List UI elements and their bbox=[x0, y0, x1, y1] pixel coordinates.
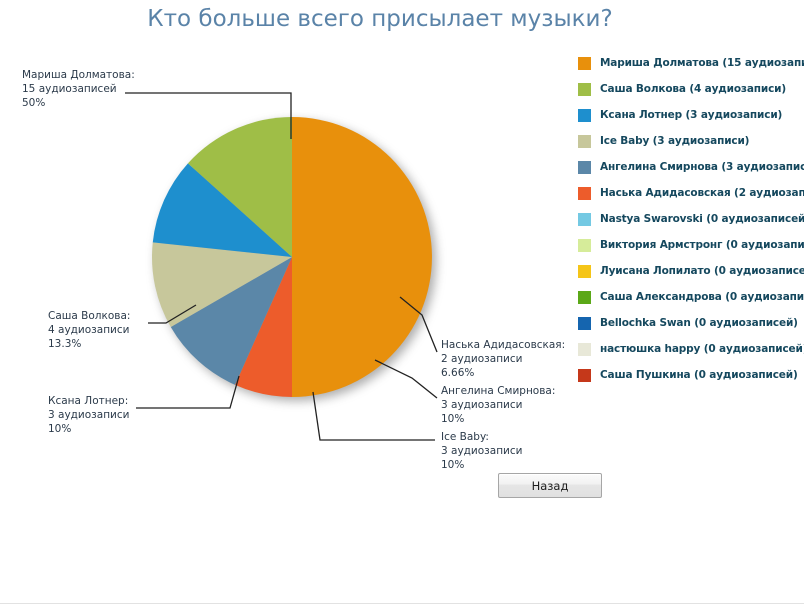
legend: Мариша Долматова (15 аудиозаписей)Саша В… bbox=[578, 50, 804, 388]
legend-item[interactable]: настюшка happy (0 аудиозаписей) bbox=[578, 336, 804, 362]
legend-item[interactable]: Саша Александрова (0 аудиозаписей) bbox=[578, 284, 804, 310]
legend-item[interactable]: Луисана Лопилато (0 аудиозаписей) bbox=[578, 258, 804, 284]
callout-naska-name: Наська Адидасовская: bbox=[441, 338, 565, 352]
callout-naska-adidasovskaya: Наська Адидасовская: 2 аудиозаписи 6.66% bbox=[441, 338, 565, 380]
callout-ice-baby-count: 3 аудиозаписи bbox=[441, 444, 522, 458]
callout-sasha-volkova-count: 4 аудиозаписи bbox=[48, 323, 130, 337]
legend-item-label: Саша Пушкина (0 аудиозаписей) bbox=[600, 369, 798, 381]
legend-color-swatch bbox=[578, 317, 591, 330]
legend-item[interactable]: Мариша Долматова (15 аудиозаписей) bbox=[578, 50, 804, 76]
legend-item-label: настюшка happy (0 аудиозаписей) bbox=[600, 343, 804, 355]
legend-item-label: Ice Baby (3 аудиозаписи) bbox=[600, 135, 749, 147]
legend-item-label: Nastya Swarovski (0 аудиозаписей) bbox=[600, 213, 804, 225]
legend-item[interactable]: Саша Волкова (4 аудиозаписи) bbox=[578, 76, 804, 102]
callout-naska-count: 2 аудиозаписи bbox=[441, 352, 565, 366]
page-title: Кто больше всего присылает музыки? bbox=[0, 6, 760, 32]
callout-angelina-count: 3 аудиозаписи bbox=[441, 398, 555, 412]
legend-item[interactable]: Наська Адидасовская (2 аудиозаписи) bbox=[578, 180, 804, 206]
callout-marisha-percent: 50% bbox=[22, 96, 135, 110]
callout-ice-baby: Ice Baby: 3 аудиозаписи 10% bbox=[441, 430, 522, 472]
legend-item-label: Виктория Армстронг (0 аудиозаписей) bbox=[600, 239, 804, 251]
legend-color-swatch bbox=[578, 135, 591, 148]
callout-marisha-count: 15 аудиозаписей bbox=[22, 82, 135, 96]
legend-item[interactable]: Nastya Swarovski (0 аудиозаписей) bbox=[578, 206, 804, 232]
callout-sasha-volkova-name: Саша Волкова: bbox=[48, 309, 130, 323]
legend-color-swatch bbox=[578, 161, 591, 174]
callout-ksana-lotner-name: Ксана Лотнер: bbox=[48, 394, 129, 408]
legend-item-label: Ксана Лотнер (3 аудиозаписи) bbox=[600, 109, 782, 121]
chart-page: Кто больше всего присылает музыки? Мариш… bbox=[0, 0, 804, 604]
legend-item-label: Саша Александрова (0 аудиозаписей) bbox=[600, 291, 804, 303]
legend-color-swatch bbox=[578, 187, 591, 200]
pie-chart bbox=[148, 113, 444, 409]
callout-angelina-percent: 10% bbox=[441, 412, 555, 426]
legend-item-label: Луисана Лопилато (0 аудиозаписей) bbox=[600, 265, 804, 277]
legend-item[interactable]: Ice Baby (3 аудиозаписи) bbox=[578, 128, 804, 154]
legend-color-swatch bbox=[578, 265, 591, 278]
callout-ksana-lotner-percent: 10% bbox=[48, 422, 129, 436]
legend-item-label: Bellochka Swan (0 аудиозаписей) bbox=[600, 317, 798, 329]
legend-color-swatch bbox=[578, 109, 591, 122]
legend-color-swatch bbox=[578, 83, 591, 96]
callout-marisha: Мариша Долматова: 15 аудиозаписей 50% bbox=[22, 68, 135, 110]
pie-slice[interactable] bbox=[292, 117, 432, 397]
pie-slices bbox=[148, 113, 444, 409]
callout-naska-percent: 6.66% bbox=[441, 366, 565, 380]
callout-sasha-volkova-percent: 13.3% bbox=[48, 337, 130, 351]
legend-color-swatch bbox=[578, 213, 591, 226]
legend-color-swatch bbox=[578, 239, 591, 252]
legend-color-swatch bbox=[578, 291, 591, 304]
legend-color-swatch bbox=[578, 343, 591, 356]
legend-item[interactable]: Виктория Армстронг (0 аудиозаписей) bbox=[578, 232, 804, 258]
callout-ice-baby-percent: 10% bbox=[441, 458, 522, 472]
legend-item-label: Саша Волкова (4 аудиозаписи) bbox=[600, 83, 786, 95]
legend-item[interactable]: Ксана Лотнер (3 аудиозаписи) bbox=[578, 102, 804, 128]
callout-angelina-smirnova: Ангелина Смирнова: 3 аудиозаписи 10% bbox=[441, 384, 555, 426]
callout-marisha-name: Мариша Долматова: bbox=[22, 68, 135, 82]
callout-angelina-name: Ангелина Смирнова: bbox=[441, 384, 555, 398]
callout-ksana-lotner-count: 3 аудиозаписи bbox=[48, 408, 129, 422]
back-button[interactable]: Назад bbox=[498, 473, 602, 498]
legend-item[interactable]: Bellochka Swan (0 аудиозаписей) bbox=[578, 310, 804, 336]
legend-item-label: Ангелина Смирнова (3 аудиозаписи) bbox=[600, 161, 804, 173]
legend-color-swatch bbox=[578, 369, 591, 382]
callout-ksana-lotner: Ксана Лотнер: 3 аудиозаписи 10% bbox=[48, 394, 129, 436]
callout-sasha-volkova: Саша Волкова: 4 аудиозаписи 13.3% bbox=[48, 309, 130, 351]
legend-item[interactable]: Саша Пушкина (0 аудиозаписей) bbox=[578, 362, 804, 388]
legend-color-swatch bbox=[578, 57, 591, 70]
legend-item[interactable]: Ангелина Смирнова (3 аудиозаписи) bbox=[578, 154, 804, 180]
legend-item-label: Наська Адидасовская (2 аудиозаписи) bbox=[600, 187, 804, 199]
legend-item-label: Мариша Долматова (15 аудиозаписей) bbox=[600, 57, 804, 69]
callout-ice-baby-name: Ice Baby: bbox=[441, 430, 522, 444]
